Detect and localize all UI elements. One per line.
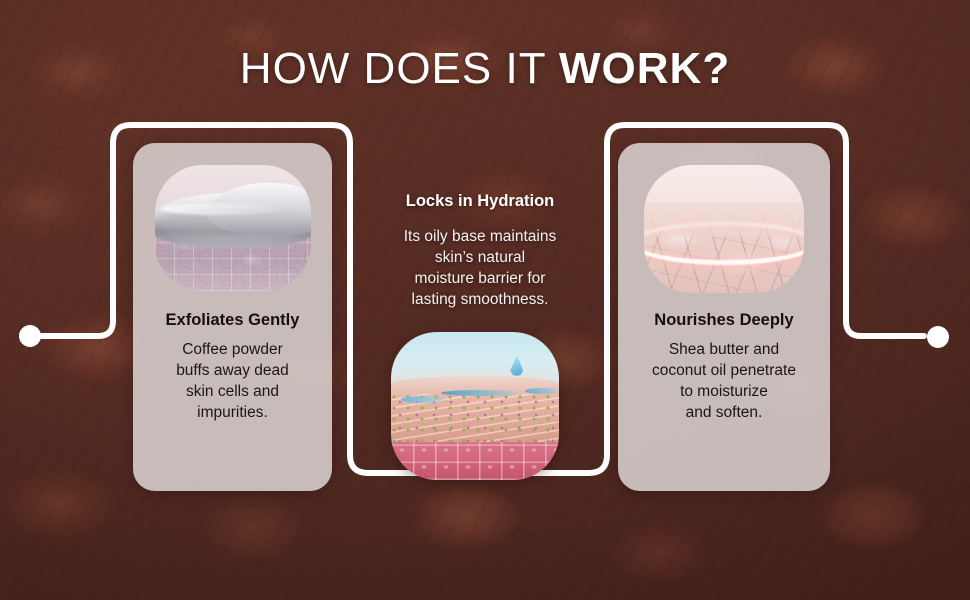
step-center-body: Its oily base maintains skin’s natural m… [340,226,620,310]
skin-exfoliation-illustration [155,165,311,291]
page-title-light-part: HOW DOES IT [240,44,559,93]
skin-hydration-droplet-illustration [391,332,559,480]
step-card-body: Shea butter and coconut oil penetrate to… [618,339,830,423]
page-title-bold-part: WORK? [559,44,730,93]
step-card-nourishes[interactable]: Nourishes Deeply Shea butter and coconut… [618,143,830,491]
infographic-canvas: HOW DOES IT WORK? Exfoliates Gently Coff… [0,0,970,600]
step-card-title: Exfoliates Gently [133,311,332,330]
step-card-body: Coffee powder buffs away dead skin cells… [133,339,332,423]
step-card-title: Nourishes Deeply [618,311,830,330]
illustration-glow-ring-mask [644,203,804,236]
step-card-exfoliates[interactable]: Exfoliates Gently Coffee powder buffs aw… [133,143,332,491]
illustration-water-streak-right [525,388,559,394]
step-center-title: Locks in Hydration [340,192,620,211]
dry-cracked-skin-glow-illustration [644,165,804,293]
page-title: HOW DOES IT WORK? [0,44,970,94]
illustration-water-streak-center [441,390,518,396]
illustration-deep-cells [391,442,559,480]
illustration-water-streak-left [401,396,445,403]
